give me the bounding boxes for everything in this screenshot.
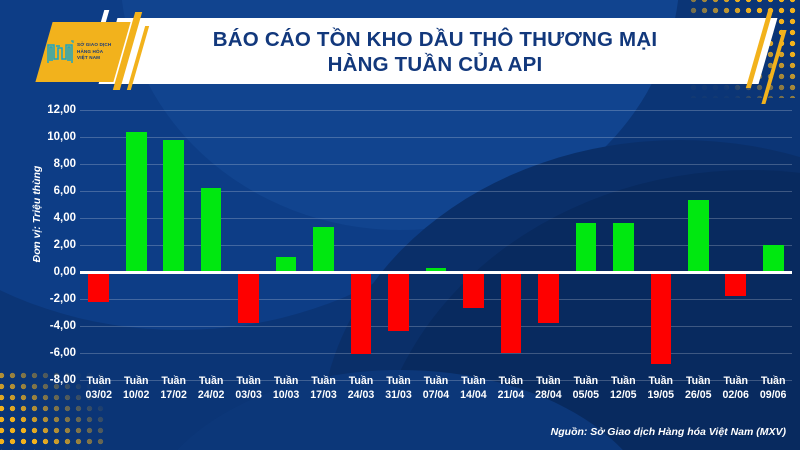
- x-axis-label-prefix: Tuần: [574, 374, 599, 388]
- x-axis-label: Tuần10/03: [267, 374, 304, 424]
- x-axis-label: Tuần07/04: [417, 374, 454, 424]
- bar: [88, 272, 109, 302]
- y-axis-tick-label: -6,00: [16, 347, 76, 359]
- x-axis-label: Tuần12/05: [605, 374, 642, 424]
- x-axis-label: Tuần09/06: [754, 374, 791, 424]
- bar: [276, 257, 297, 272]
- x-axis-label: Tuần03/03: [230, 374, 267, 424]
- x-axis-label-prefix: Tuần: [461, 374, 486, 388]
- x-axis-label: Tuần14/04: [455, 374, 492, 424]
- x-axis-label-date: 07/04: [423, 388, 450, 402]
- x-axis-label-prefix: Tuần: [161, 374, 186, 388]
- x-axis-label-prefix: Tuần: [424, 374, 449, 388]
- x-axis-label-prefix: Tuần: [124, 374, 149, 388]
- y-axis-tick-label: -4,00: [16, 320, 76, 332]
- x-axis-label-date: 05/05: [573, 388, 600, 402]
- page-title: BÁO CÁO TỒN KHO DẦU THÔ THƯƠNG MẠI HÀNG …: [150, 22, 720, 82]
- x-axis-label: Tuần05/05: [567, 374, 604, 424]
- x-axis-label: Tuần10/02: [117, 374, 154, 424]
- bar: [126, 132, 147, 272]
- x-axis-label-date: 31/03: [385, 388, 412, 402]
- x-axis-label: Tuần03/02: [80, 374, 117, 424]
- x-axis-label-prefix: Tuần: [649, 374, 674, 388]
- x-axis-label: Tuần24/02: [192, 374, 229, 424]
- x-axis-label: Tuần31/03: [380, 374, 417, 424]
- x-axis-label-date: 09/06: [760, 388, 787, 402]
- bar: [501, 272, 522, 353]
- page-title-line1: BÁO CÁO TỒN KHO DẦU THÔ THƯƠNG MẠI: [213, 27, 657, 52]
- x-axis-label-date: 19/05: [648, 388, 675, 402]
- x-axis-label: Tuần26/05: [680, 374, 717, 424]
- mxv-logo-icon: [46, 39, 74, 65]
- x-axis-label: Tuần02/06: [717, 374, 754, 424]
- bar: [163, 140, 184, 272]
- x-axis-label-date: 03/03: [235, 388, 262, 402]
- x-axis-label-prefix: Tuần: [686, 374, 711, 388]
- x-axis-label-date: 14/04: [460, 388, 487, 402]
- bar: [351, 272, 372, 354]
- x-axis-label-date: 03/02: [85, 388, 112, 402]
- y-axis-tick-label: -2,00: [16, 293, 76, 305]
- bar: [463, 272, 484, 308]
- x-axis-label: Tuần28/04: [530, 374, 567, 424]
- zero-axis-line: [80, 271, 792, 274]
- x-axis-label-date: 26/05: [685, 388, 712, 402]
- x-axis-label-prefix: Tuần: [274, 374, 299, 388]
- logo-text: SỞ GIAO DỊCH HÀNG HÓA VIỆT NAM: [77, 42, 111, 63]
- logo-text-line3: VIỆT NAM: [77, 55, 111, 62]
- x-axis-label-prefix: Tuần: [199, 374, 224, 388]
- x-axis-label-date: 17/03: [310, 388, 337, 402]
- x-axis-label-prefix: Tuần: [611, 374, 636, 388]
- x-axis-label-prefix: Tuần: [236, 374, 261, 388]
- x-axis-label-prefix: Tuần: [311, 374, 336, 388]
- x-axis-label-date: 10/03: [273, 388, 300, 402]
- bar: [313, 227, 334, 272]
- bar: [688, 200, 709, 272]
- x-axis-label-date: 28/04: [535, 388, 562, 402]
- y-axis-tick-label: 2,00: [16, 239, 76, 251]
- source-note: Nguồn: Sở Giao dịch Hàng hóa Việt Nam (M…: [551, 426, 786, 438]
- x-axis-label: Tuần17/03: [305, 374, 342, 424]
- bar: [651, 272, 672, 364]
- y-axis-ticks: 12,0010,008,006,004,002,000,00-2,00-4,00…: [16, 96, 76, 396]
- x-axis-label-date: 24/03: [348, 388, 375, 402]
- x-axis-label: Tuần24/03: [342, 374, 379, 424]
- x-axis-label-prefix: Tuần: [386, 374, 411, 388]
- x-axis-label-prefix: Tuần: [723, 374, 748, 388]
- infographic-page: SỞ GIAO DỊCH HÀNG HÓA VIỆT NAM BÁO CÁO T…: [0, 0, 800, 450]
- x-axis-label-prefix: Tuần: [349, 374, 374, 388]
- x-axis-label-date: 10/02: [123, 388, 150, 402]
- bar: [238, 272, 259, 323]
- x-axis-label-date: 24/02: [198, 388, 225, 402]
- x-axis-label-date: 21/04: [498, 388, 525, 402]
- bar: [576, 223, 597, 272]
- x-axis-label-prefix: Tuần: [536, 374, 561, 388]
- x-axis-label-prefix: Tuần: [761, 374, 786, 388]
- x-axis-label-prefix: Tuần: [86, 374, 111, 388]
- plot-area: [80, 96, 792, 396]
- bar: [613, 223, 634, 272]
- y-axis-tick-label: 10,00: [16, 131, 76, 143]
- x-axis-label-date: 12/05: [610, 388, 637, 402]
- header: SỞ GIAO DỊCH HÀNG HÓA VIỆT NAM BÁO CÁO T…: [0, 8, 800, 94]
- x-axis-label: Tuần21/04: [492, 374, 529, 424]
- x-axis-label-prefix: Tuần: [499, 374, 524, 388]
- bar: [201, 188, 222, 272]
- logo-text-line1: SỞ GIAO DỊCH: [77, 42, 111, 49]
- page-title-line2: HÀNG TUẦN CỦA API: [328, 52, 543, 77]
- x-axis-label-date: 02/06: [722, 388, 749, 402]
- chart: Đơn vị: Triệu thùng 12,0010,008,006,004,…: [0, 96, 800, 396]
- y-axis-tick-label: 4,00: [16, 212, 76, 224]
- y-axis-tick-label: 0,00: [16, 266, 76, 278]
- y-axis-tick-label: 6,00: [16, 185, 76, 197]
- bar: [725, 272, 746, 296]
- y-axis-tick-label: -8,00: [16, 374, 76, 386]
- x-axis-label: Tuần17/02: [155, 374, 192, 424]
- y-axis-tick-label: 8,00: [16, 158, 76, 170]
- bar-series: [80, 96, 792, 396]
- bar: [538, 272, 559, 323]
- x-axis-label-date: 17/02: [160, 388, 187, 402]
- bar: [388, 272, 409, 331]
- bar: [763, 245, 784, 272]
- x-axis-label: Tuần19/05: [642, 374, 679, 424]
- x-axis-labels: Tuần03/02Tuần10/02Tuần17/02Tuần24/02Tuần…: [80, 374, 792, 424]
- y-axis-tick-label: 12,00: [16, 104, 76, 116]
